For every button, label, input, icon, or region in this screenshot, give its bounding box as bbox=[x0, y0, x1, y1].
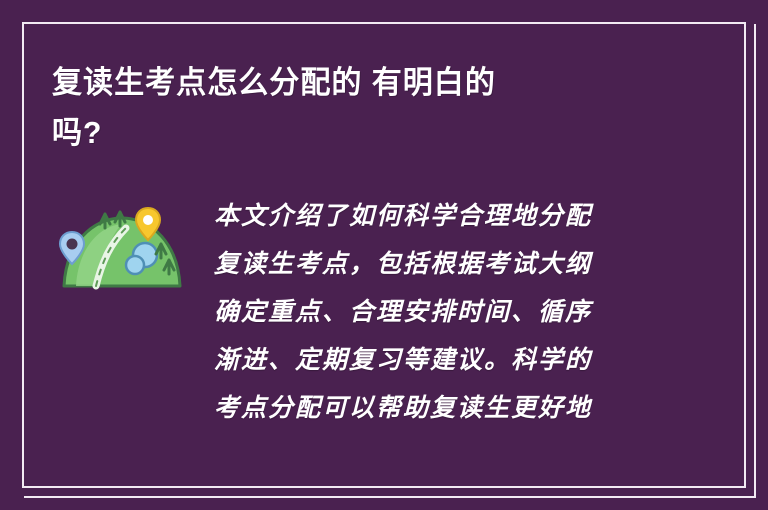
article-body-row: 本文介绍了如何科学合理地分配 复读生考点，包括根据考试大纲 确定重点、合理安排时… bbox=[52, 192, 708, 432]
summary-line-1: 本文介绍了如何科学合理地分配 bbox=[214, 192, 592, 240]
page-title-line-1: 复读生考点怎么分配的 有明白的 bbox=[52, 58, 673, 108]
frame-mask-left bbox=[0, 0, 14, 510]
article-summary: 本文介绍了如何科学合理地分配 复读生考点，包括根据考试大纲 确定重点、合理安排时… bbox=[214, 192, 592, 432]
summary-line-4: 渐进、定期复习等建议。科学的 bbox=[214, 336, 592, 384]
page-title-line-2: 吗? bbox=[52, 108, 673, 158]
frame-mask-bottom-left bbox=[0, 496, 24, 510]
summary-line-5: 考点分配可以帮助复读生更好地 bbox=[214, 384, 592, 432]
page-title: 复读生考点怎么分配的 有明白的 吗? bbox=[52, 58, 673, 158]
frame-mask-top-right bbox=[754, 0, 768, 24]
summary-line-3: 确定重点、合理安排时间、循序 bbox=[214, 288, 592, 336]
map-hill-icon bbox=[52, 198, 192, 290]
summary-line-2: 复读生考点，包括根据考试大纲 bbox=[214, 240, 592, 288]
article-cover-card: 复读生考点怎么分配的 有明白的 吗? bbox=[0, 0, 768, 510]
frame-mask-top bbox=[0, 0, 768, 14]
